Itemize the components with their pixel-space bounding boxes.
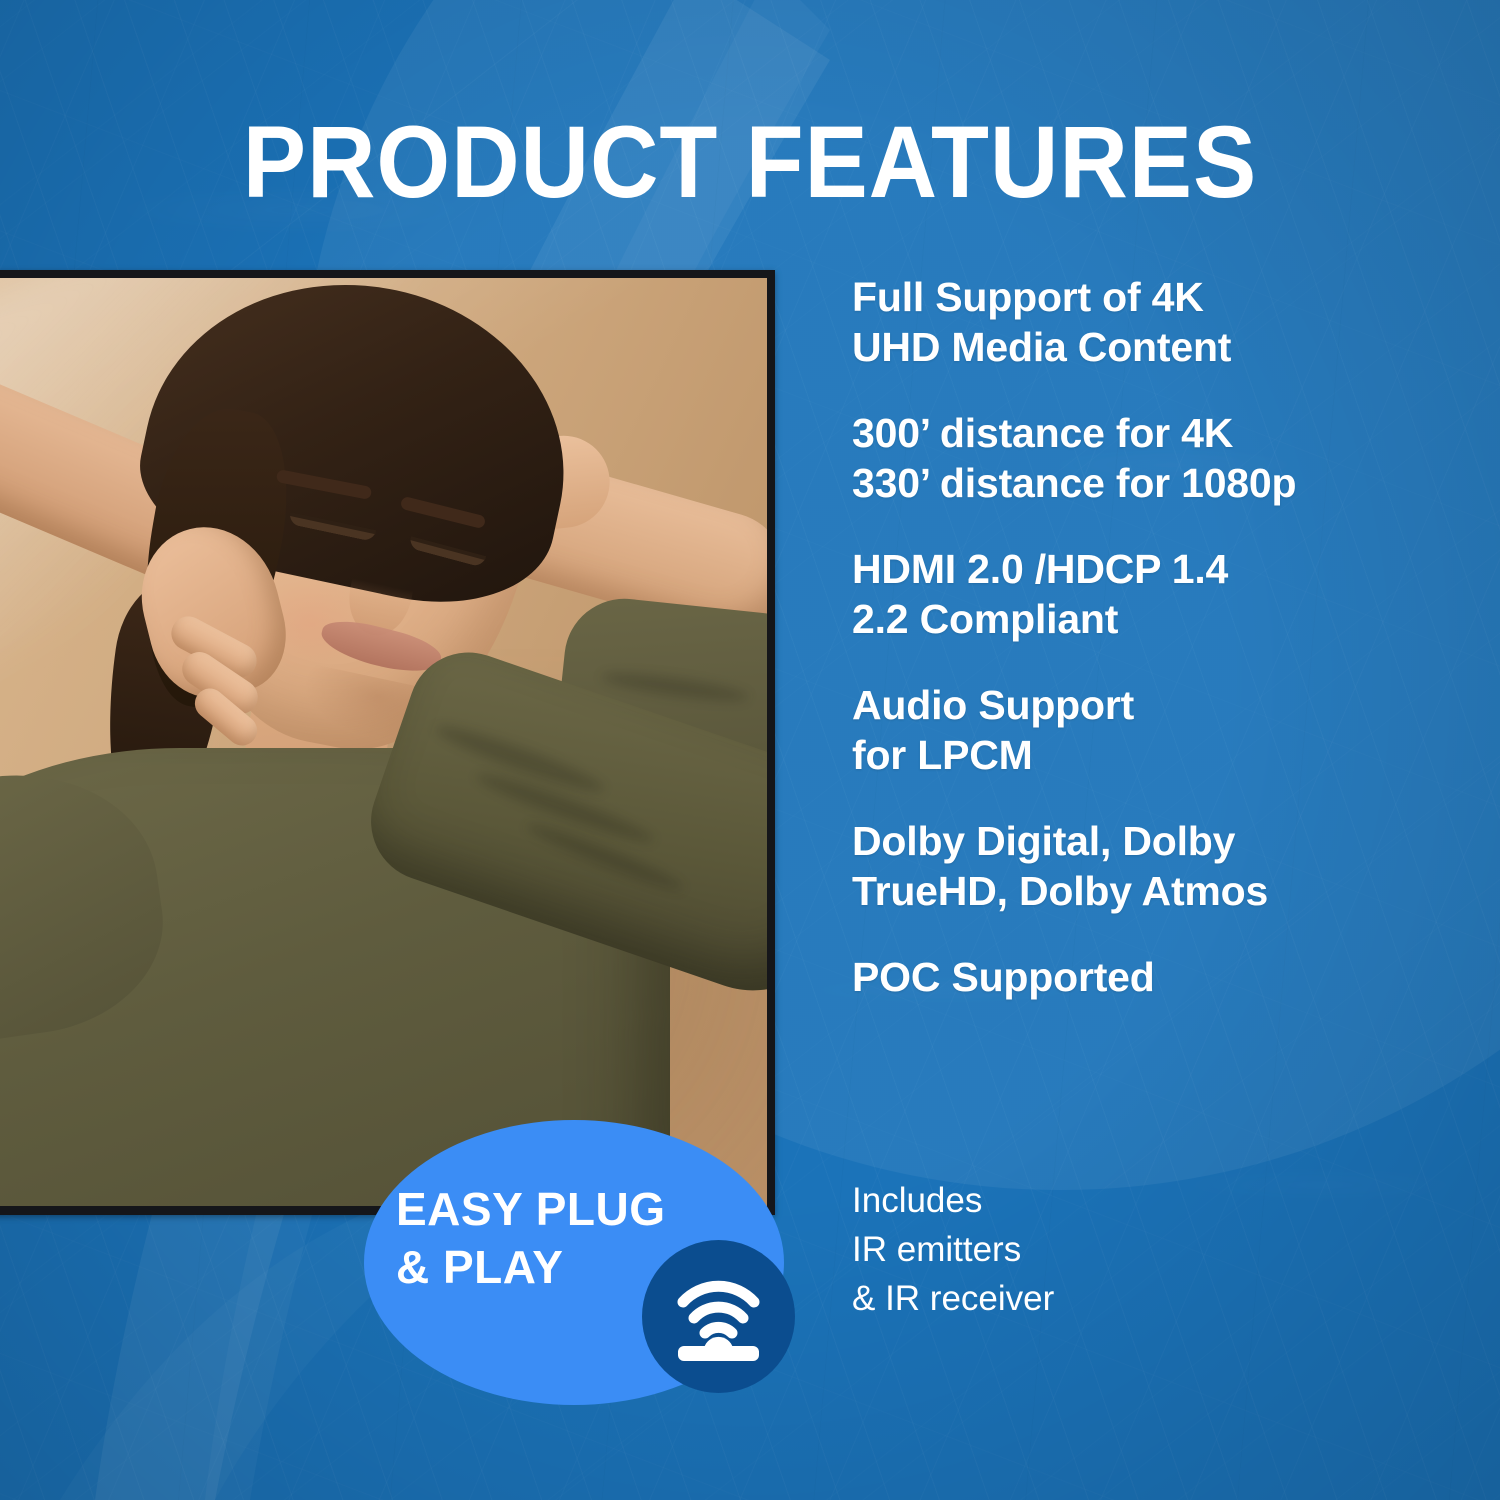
woman-stretching-photo: Woman in olive crop top with arms raised… (0, 278, 767, 1206)
photo-figure (0, 278, 767, 1206)
feature-item-audio: Audio Support for LPCM (852, 680, 1472, 780)
product-photo-frame: Woman in olive crop top with arms raised… (0, 270, 775, 1215)
wireless-broadcast-icon-circle (642, 1240, 795, 1393)
feature-item-poc: POC Supported (852, 952, 1472, 1002)
wireless-broadcast-icon (642, 1240, 795, 1393)
easy-plug-and-play-badge: EASY PLUG & PLAY (364, 1120, 784, 1405)
feature-item-hdmi-hdcp: HDMI 2.0 /HDCP 1.4 2.2 Compliant (852, 544, 1472, 644)
page-title: PRODUCT FEATURES (53, 104, 1448, 221)
feature-list: Full Support of 4K UHD Media Content 300… (852, 272, 1472, 1038)
feature-item-4k-uhd: Full Support of 4K UHD Media Content (852, 272, 1472, 372)
feature-item-distance: 300’ distance for 4K 330’ distance for 1… (852, 408, 1472, 508)
feature-item-dolby: Dolby Digital, Dolby TrueHD, Dolby Atmos (852, 816, 1472, 916)
includes-note: Includes IR emitters & IR receiver (852, 1176, 1054, 1323)
